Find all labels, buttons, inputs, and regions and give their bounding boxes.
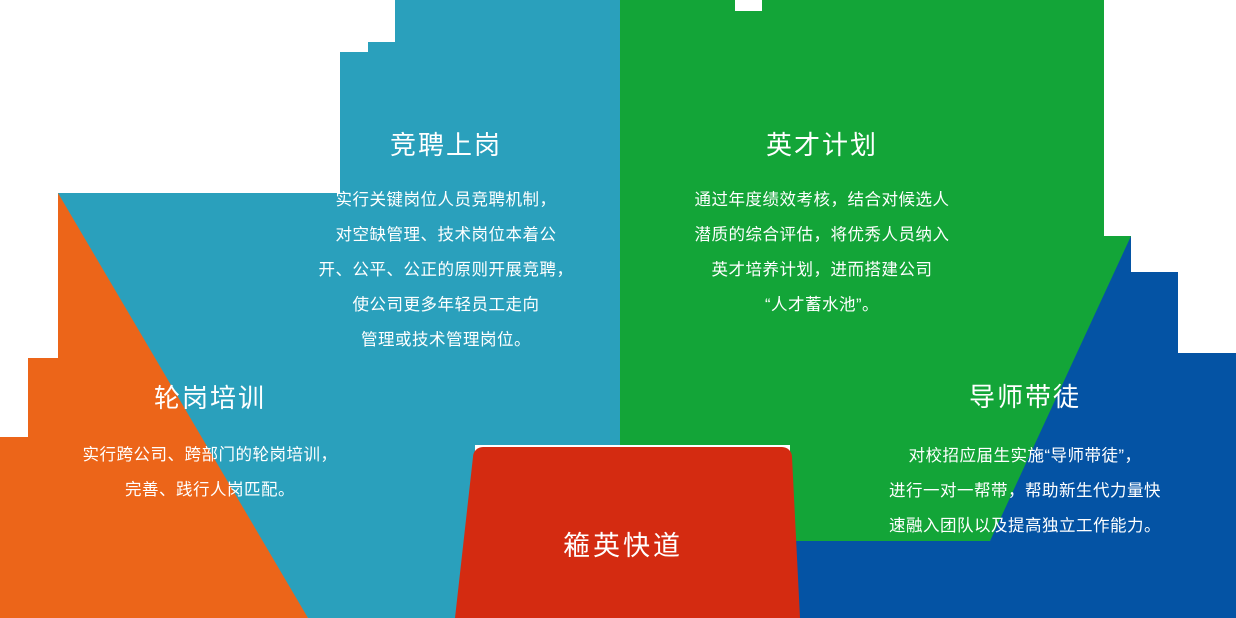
shape-center-banner: [455, 447, 800, 618]
infographic-canvas: 竞聘上岗 实行关键岗位人员竞聘机制， 对空缺管理、技术岗位本着公 开、公平、公正…: [0, 0, 1236, 618]
diagram-shapes: [0, 0, 1236, 618]
